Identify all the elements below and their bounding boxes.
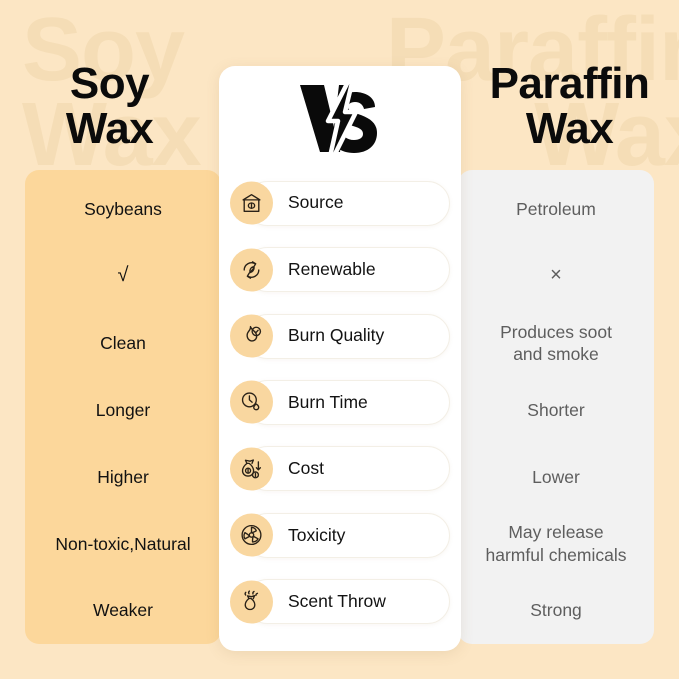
soy-wax-value-panel: Soybeans √ Clean Longer Higher Non-toxic… bbox=[25, 170, 221, 644]
criteria-pill-cost[interactable]: Cost bbox=[245, 446, 450, 491]
scent-bag-icon bbox=[230, 580, 273, 623]
criteria-pill-scent-throw[interactable]: Scent Throw bbox=[245, 579, 450, 624]
soy-value-scent-throw: Weaker bbox=[25, 577, 221, 644]
infographic-canvas: Soy Wax Paraffin Wax Soy Wax Paraffin Wa… bbox=[0, 0, 679, 679]
soy-value-toxicity: Non-toxic,Natural bbox=[25, 510, 221, 577]
jar-plant-icon bbox=[230, 182, 273, 225]
money-bag-down-icon bbox=[230, 447, 273, 490]
soy-wax-title: Soy Wax bbox=[0, 62, 219, 152]
criteria-label: Toxicity bbox=[288, 527, 345, 545]
criteria-pill-renewable[interactable]: Renewable bbox=[245, 247, 450, 292]
soy-value-burn-quality: Clean bbox=[25, 310, 221, 377]
clock-flame-icon bbox=[230, 381, 273, 424]
criteria-row-list: Source Renew bbox=[219, 170, 461, 651]
criteria-label: Scent Throw bbox=[288, 593, 386, 611]
paraffin-wax-value-panel: Petroleum × Produces soot and smoke Shor… bbox=[458, 170, 654, 644]
flame-check-icon bbox=[230, 315, 273, 358]
paraffin-value-burn-time: Shorter bbox=[458, 377, 654, 444]
table-row: Source bbox=[227, 170, 453, 236]
table-row: Burn Time bbox=[227, 369, 453, 435]
table-row: Renewable bbox=[227, 236, 453, 302]
criteria-pill-toxicity[interactable]: Toxicity bbox=[245, 513, 450, 558]
criteria-pill-source[interactable]: Source bbox=[245, 181, 450, 226]
recycle-leaf-icon bbox=[230, 248, 273, 291]
paraffin-value-renewable: × bbox=[458, 243, 654, 310]
soy-value-cost: Higher bbox=[25, 443, 221, 510]
criteria-label: Renewable bbox=[288, 261, 376, 279]
criteria-label: Cost bbox=[288, 460, 324, 478]
paraffin-value-cost: Lower bbox=[458, 443, 654, 510]
paraffin-value-toxicity: May release harmful chemicals bbox=[458, 510, 654, 577]
table-row: Burn Quality bbox=[227, 303, 453, 369]
paraffin-value-scent-throw: Strong bbox=[458, 577, 654, 644]
criteria-label: Burn Quality bbox=[288, 327, 384, 345]
paraffin-value-burn-quality: Produces soot and smoke bbox=[458, 310, 654, 377]
comparison-criteria-card: Source Renew bbox=[219, 66, 461, 651]
criteria-pill-burn-quality[interactable]: Burn Quality bbox=[245, 314, 450, 359]
radiation-icon bbox=[230, 514, 273, 557]
criteria-label: Source bbox=[288, 194, 343, 212]
soy-value-burn-time: Longer bbox=[25, 377, 221, 444]
table-row: Scent Throw bbox=[227, 569, 453, 635]
soy-value-source: Soybeans bbox=[25, 176, 221, 243]
vs-logo bbox=[294, 66, 386, 170]
paraffin-value-source: Petroleum bbox=[458, 176, 654, 243]
table-row: Toxicity bbox=[227, 502, 453, 568]
criteria-label: Burn Time bbox=[288, 394, 368, 412]
table-row: Cost bbox=[227, 436, 453, 502]
paraffin-wax-title: Paraffin Wax bbox=[460, 62, 679, 152]
soy-value-renewable: √ bbox=[25, 243, 221, 310]
criteria-pill-burn-time[interactable]: Burn Time bbox=[245, 380, 450, 425]
